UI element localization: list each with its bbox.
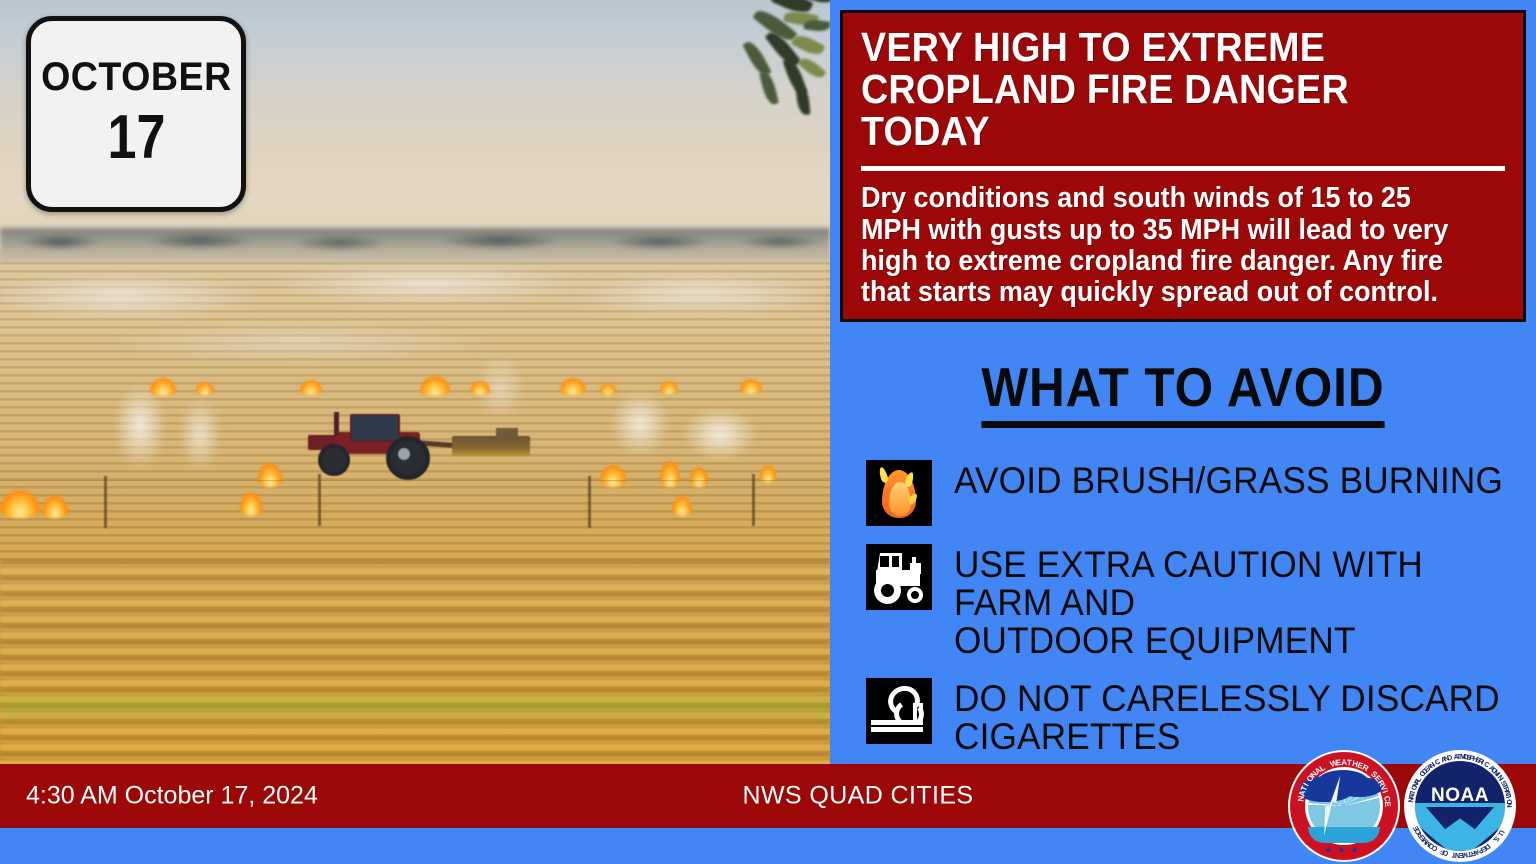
- avoid-items-list: AVOID BRUSH/GRASS BURNING USE EXTRA CAUT…: [866, 460, 1536, 775]
- list-item: USE EXTRA CAUTION WITH FARM AND OUTDOOR …: [866, 544, 1536, 660]
- avoid-section-title: WHAT TO AVOID: [981, 360, 1384, 428]
- date-day-label: 17: [107, 105, 165, 170]
- tractor-rear-wheel: [386, 436, 430, 480]
- info-panel: VERY HIGH TO EXTREME CROPLAND FIRE DANGE…: [830, 0, 1536, 810]
- noaa-logo: NOAA NATIONAL OCEANIC AND ATMOSPHERIC AD…: [1404, 750, 1516, 862]
- green-grass-streak: [0, 690, 830, 726]
- alert-box: VERY HIGH TO EXTREME CROPLAND FIRE DANGE…: [840, 10, 1526, 322]
- tractor-icon: [866, 544, 932, 610]
- noaa-ring-text: NATIONAL OCEANIC AND ATMOSPHERIC ADMINIS…: [1404, 750, 1516, 862]
- alert-headline: VERY HIGH TO EXTREME CROPLAND FIRE DANGE…: [861, 27, 1453, 152]
- avoid-item-label: DO NOT CARELESSLY DISCARD CIGARETTES: [954, 680, 1500, 756]
- footer-timestamp: 4:30 AM October 17, 2024: [26, 782, 318, 811]
- no-smoking-cigarette-icon: [866, 678, 932, 744]
- tractor-front-wheel: [318, 444, 350, 476]
- tree-branch-foliage: [700, 0, 830, 165]
- list-item: AVOID BRUSH/GRASS BURNING: [866, 460, 1536, 526]
- towed-implement: [452, 436, 530, 456]
- date-month-label: OCTOBER: [41, 57, 232, 97]
- tractor-in-field: [300, 408, 530, 470]
- tractor-exhaust-pipe: [334, 412, 339, 436]
- fire-icon: [866, 460, 932, 526]
- implement-top-box: [496, 428, 518, 440]
- avoid-item-label: AVOID BRUSH/GRASS BURNING: [954, 462, 1503, 500]
- avoid-item-label: USE EXTRA CAUTION WITH FARM AND OUTDOOR …: [954, 546, 1507, 660]
- avoid-title-container: WHAT TO AVOID: [830, 360, 1536, 428]
- weather-graphic-poster: OCTOBER 17 VERY HIGH TO EXTREME CROPLAND…: [0, 0, 1536, 864]
- cropland-fire-photo: OCTOBER 17: [0, 0, 830, 810]
- alert-body-text: Dry conditions and south winds of 15 to …: [861, 183, 1460, 308]
- tractor-cab: [350, 414, 400, 442]
- nws-ring-text: NATIONAL WEATHER SERVICE: [1288, 750, 1400, 862]
- alert-divider: [861, 166, 1505, 171]
- date-badge: OCTOBER 17: [26, 16, 246, 212]
- nws-seal-logo: ★★★ NATIONAL WEATHER SERVICE: [1288, 750, 1400, 862]
- list-item: DO NOT CARELESSLY DISCARD CIGARETTES: [866, 678, 1536, 756]
- distant-flames: [0, 372, 830, 412]
